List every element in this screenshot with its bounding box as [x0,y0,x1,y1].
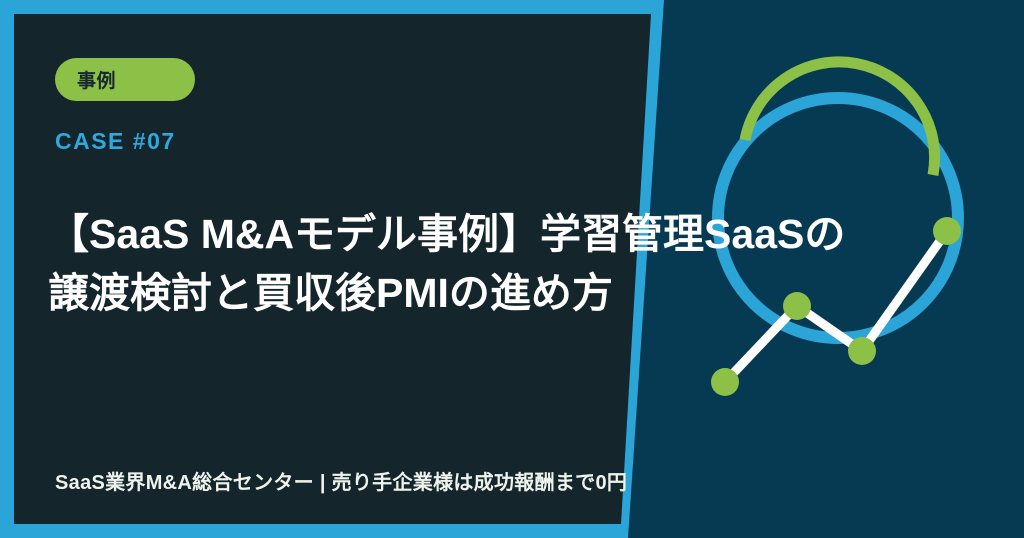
category-badge-label: 事例 [77,66,116,93]
thumbnail-canvas: 事例 CASE #07 【SaaS M&Aモデル事例】学習管理SaaSの譲渡検討… [0,0,1024,538]
footer-branding: SaaS業界M&A総合センター | 売り手企業様は成功報酬まで0円 [55,466,627,495]
category-badge: 事例 [55,58,195,101]
page-title: 【SaaS M&Aモデル事例】学習管理SaaSの譲渡検討と買収後PMIの進め方 [48,205,868,321]
case-number-label: CASE #07 [55,128,176,155]
content-layer: 事例 CASE #07 【SaaS M&Aモデル事例】学習管理SaaSの譲渡検討… [0,0,1024,538]
